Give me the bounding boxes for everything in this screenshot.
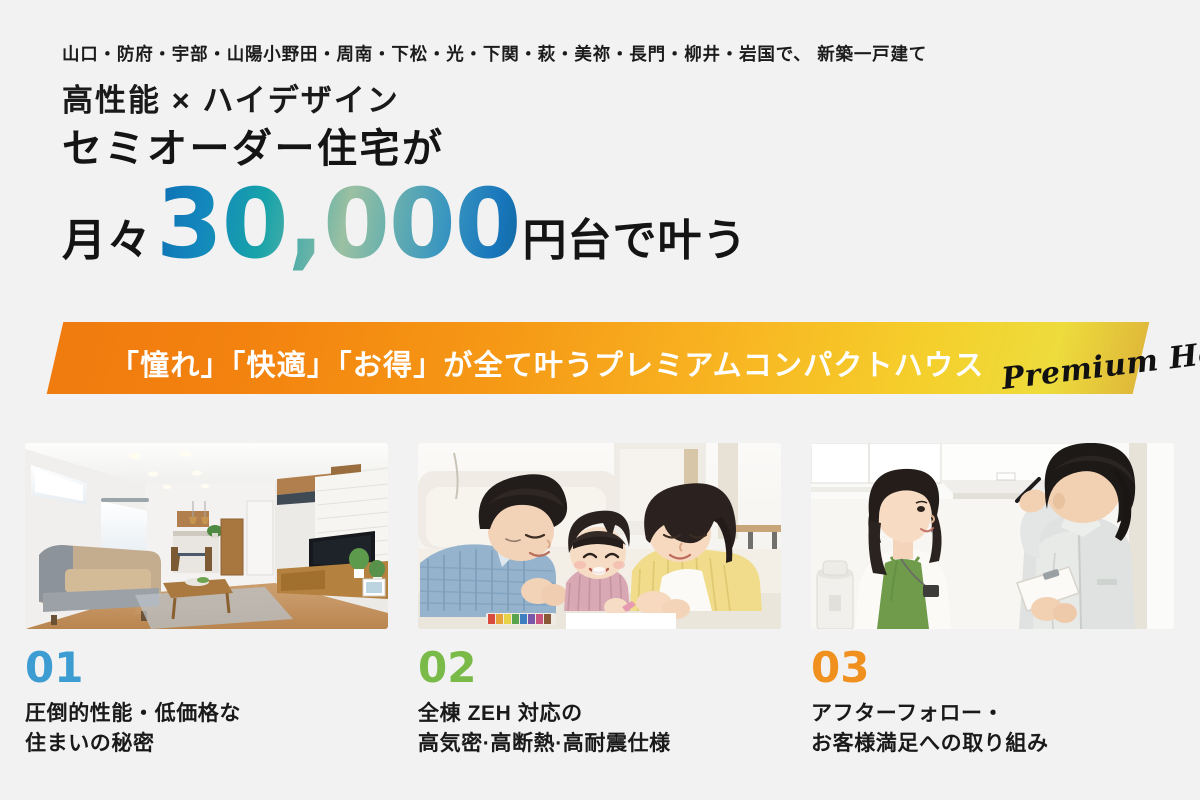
family-illustration bbox=[418, 443, 781, 629]
feature-card-number: 01 bbox=[25, 647, 388, 689]
price-amount: 30,000 bbox=[156, 177, 520, 271]
banner-label: 「憧れ」「快適」「お得」が全て叶うプレミアムコンパクトハウス bbox=[110, 342, 1090, 384]
advertisement-page: 山口・防府・宇部・山陽小野田・周南・下松・光・下関・萩・美祢・長門・柳井・岩国で… bbox=[0, 0, 1200, 800]
hero-headline: セミオーダー住宅が bbox=[62, 125, 1142, 173]
price-headline-row: 月々 30,000 円台で叶う bbox=[62, 175, 1142, 269]
service-area-kicker: 山口・防府・宇部・山陽小野田・周南・下松・光・下関・萩・美祢・長門・柳井・岩国で… bbox=[62, 44, 1142, 65]
feature-card-number: 02 bbox=[418, 647, 781, 689]
feature-card-number: 03 bbox=[811, 647, 1174, 689]
hero-subheadline: 高性能 × ハイデザイン bbox=[62, 83, 1142, 119]
price-suffix-label: 円台で叶う bbox=[522, 204, 747, 268]
hero-text-block: 山口・防府・宇部・山陽小野田・周南・下松・光・下関・萩・美祢・長門・柳井・岩国で… bbox=[62, 44, 1142, 269]
price-prefix-label: 月々 bbox=[62, 204, 152, 268]
staff-and-customer-photo bbox=[811, 443, 1174, 629]
family-on-floor-photo bbox=[418, 443, 781, 629]
living-room-interior-photo bbox=[25, 443, 388, 629]
feature-card-title: 全棟 ZEH 対応の 高気密·高断熱·高耐震仕様 bbox=[418, 699, 781, 760]
feature-card[interactable]: 03 アフターフォロー・ お客様満足への取り組み bbox=[811, 443, 1174, 760]
feature-card[interactable]: 02 全棟 ZEH 対応の 高気密·高断熱·高耐震仕様 bbox=[418, 443, 781, 760]
feature-card-title: アフターフォロー・ お客様満足への取り組み bbox=[811, 699, 1174, 760]
feature-card-list: 01 圧倒的性能・低価格な 住まいの秘密 bbox=[25, 443, 1175, 760]
feature-card[interactable]: 01 圧倒的性能・低価格な 住まいの秘密 bbox=[25, 443, 388, 760]
feature-card-title: 圧倒的性能・低価格な 住まいの秘密 bbox=[25, 699, 388, 760]
staff-customer-illustration bbox=[811, 443, 1174, 629]
living-room-illustration bbox=[25, 443, 388, 629]
